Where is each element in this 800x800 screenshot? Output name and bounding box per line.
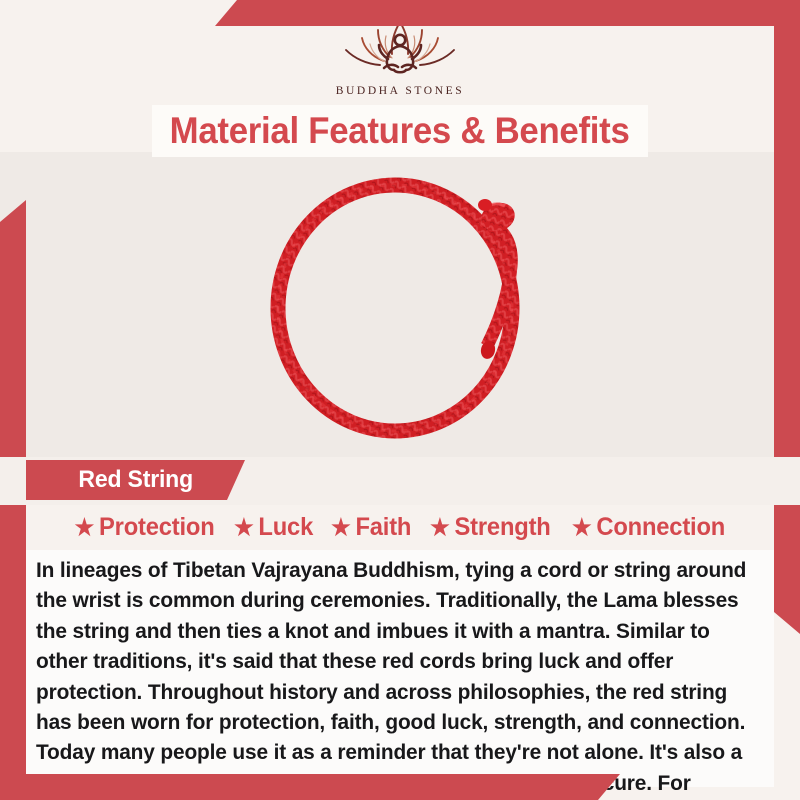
red-string-bracelet-image [245,160,565,450]
feature-label: Faith [356,513,412,542]
star-icon: ★ [331,516,351,539]
star-icon: ★ [234,516,254,539]
feature-connection: ★ Connection [572,513,725,542]
product-label-row: Red String [0,457,800,505]
feature-label: Strength [455,513,551,542]
product-label-text: Red String [78,466,193,494]
brand-logo: BUDDHA STONES [334,14,466,97]
feature-label: Connection [597,513,726,542]
product-photo-area [0,152,800,457]
feature-faith: ★ Faith [331,513,411,542]
brand-name: BUDDHA STONES [336,85,464,97]
star-icon: ★ [431,516,451,539]
star-icon: ★ [74,516,94,539]
page-title: Material Features & Benefits [170,110,630,152]
product-label-banner: Red String [26,460,245,500]
feature-label: Protection [99,513,215,542]
feature-label: Luck [258,513,313,542]
decor-band-right [774,26,800,634]
description-block: In lineages of Tibetan Vajrayana Buddhis… [26,550,774,787]
decor-band-bottom [0,774,620,800]
features-row: ★ Protection ★ Luck ★ Faith ★ Strength ★… [0,505,800,550]
title-banner: Material Features & Benefits [152,105,648,157]
feature-luck: ★ Luck [234,513,313,542]
feature-strength: ★ Strength [431,513,551,542]
decor-band-top [215,0,800,26]
star-icon: ★ [572,516,592,539]
infographic-page: BUDDHA STONES Material Features & Benefi… [0,0,800,800]
description-text: In lineages of Tibetan Vajrayana Buddhis… [36,556,749,800]
feature-protection: ★ Protection [74,513,214,542]
